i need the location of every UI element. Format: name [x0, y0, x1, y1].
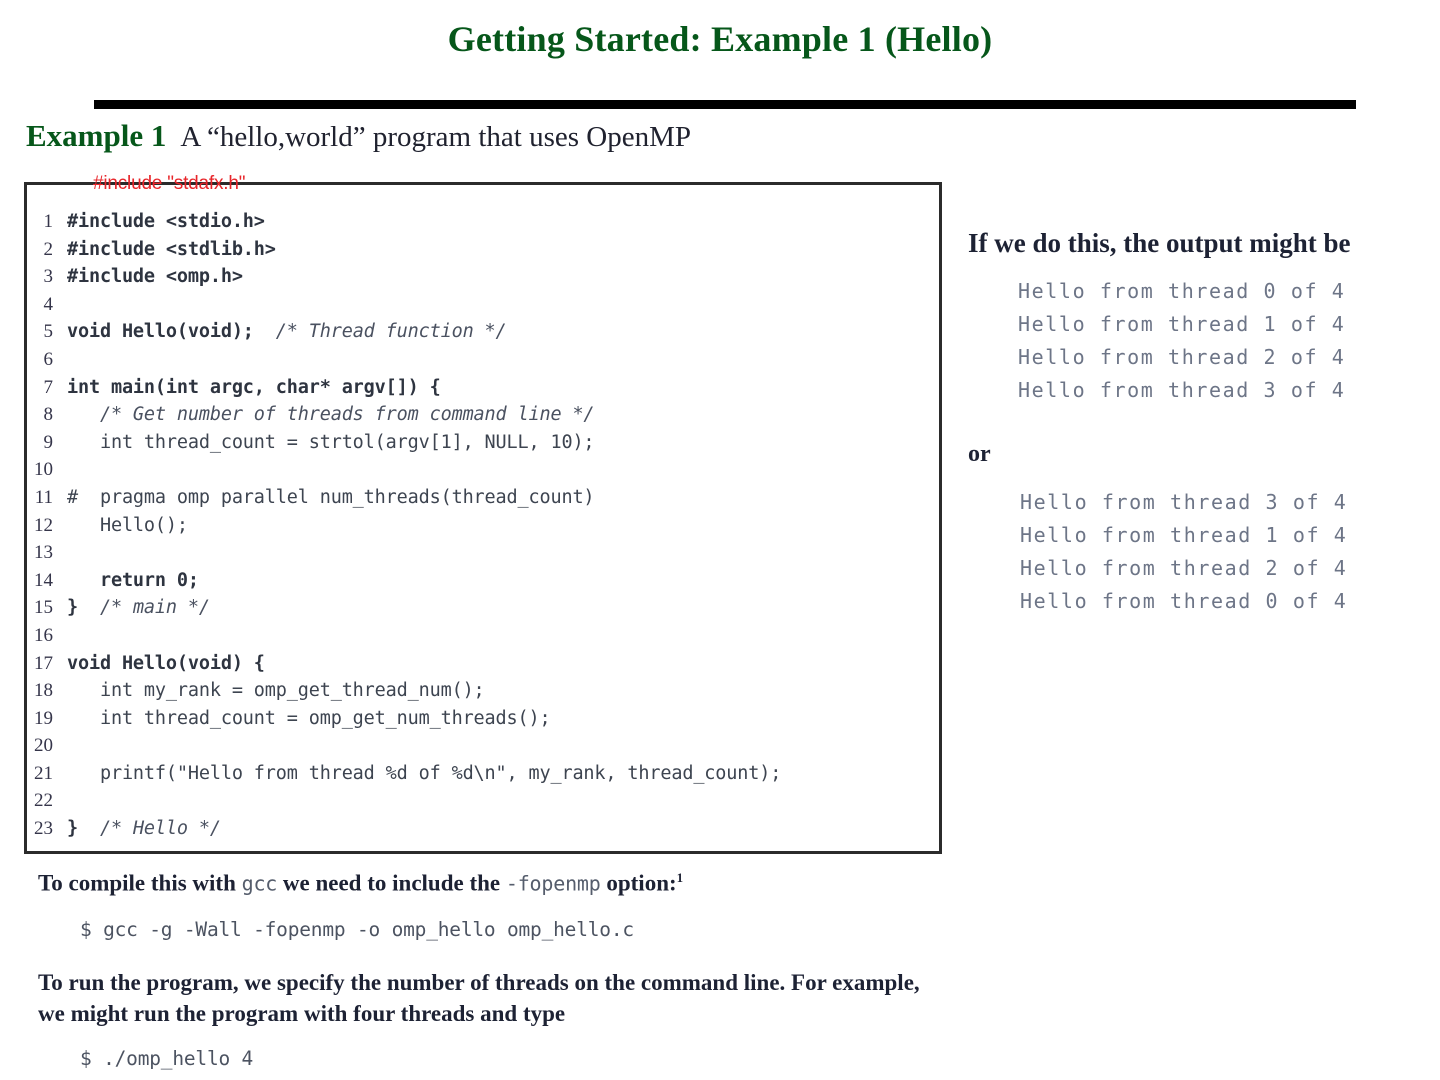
code-line-number: 7	[27, 377, 67, 399]
code-listing-inner: #include "stdafx.h" 1#include <stdio.h>2…	[27, 185, 939, 851]
code-line-number: 18	[27, 680, 67, 702]
compile-text-1: To compile this with	[38, 871, 242, 896]
bottom-prose: To compile this with gcc we need to incl…	[38, 862, 938, 1070]
or-label: or	[968, 441, 1428, 468]
code-line-number: 22	[27, 790, 67, 812]
code-line-text: #include <omp.h>	[67, 266, 243, 287]
example-label: Example 1	[26, 118, 166, 154]
code-line: 19 int thread_count = omp_get_num_thread…	[27, 708, 939, 736]
code-line-number: 21	[27, 763, 67, 785]
compile-text-2: we need to include the	[277, 871, 506, 896]
code-line: 20	[27, 735, 939, 763]
code-line-number: 9	[27, 432, 67, 454]
code-line: 21 printf("Hello from thread %d of %d\n"…	[27, 763, 939, 791]
code-line-text: }	[67, 818, 78, 839]
code-line-number: 20	[27, 735, 67, 757]
code-line: 6	[27, 349, 939, 377]
code-line-text: int my_rank = omp_get_thread_num();	[67, 680, 485, 701]
code-line-number: 15	[27, 597, 67, 619]
output-sample-2: Hello from thread 3 of 4 Hello from thre…	[1020, 486, 1428, 618]
code-line-text: return 0;	[67, 570, 199, 591]
code-line-number: 3	[27, 266, 67, 288]
code-line-text: int thread_count = omp_get_num_threads()…	[67, 708, 550, 729]
code-line: 1#include <stdio.h>	[27, 211, 939, 239]
run-command: $ ./omp_hello 4	[80, 1047, 938, 1070]
code-line-number: 4	[27, 294, 67, 316]
code-line-number: 14	[27, 570, 67, 592]
code-line-comment: /* Get number of threads from command li…	[67, 404, 594, 425]
compile-mono-gcc: gcc	[242, 872, 278, 896]
code-line-comment: /* Thread function */	[254, 321, 507, 342]
code-line-text: printf("Hello from thread %d of %d\n", m…	[67, 763, 781, 784]
code-line: 18 int my_rank = omp_get_thread_num();	[27, 680, 939, 708]
code-line-number: 23	[27, 818, 67, 840]
footnote-marker: 1	[677, 870, 684, 885]
code-line: 15} /* main */	[27, 597, 939, 625]
code-line-number: 11	[27, 487, 67, 509]
output-heading: If we do this, the output might be	[968, 228, 1428, 259]
code-line: 10	[27, 459, 939, 487]
code-line-text: #include <stdio.h>	[67, 211, 265, 232]
code-line-number: 10	[27, 459, 67, 481]
code-line-number: 8	[27, 404, 67, 426]
code-line-text: int thread_count = strtol(argv[1], NULL,…	[67, 432, 594, 453]
code-line-comment: /* Hello */	[78, 818, 221, 839]
code-line: 13	[27, 542, 939, 570]
code-line-number: 16	[27, 625, 67, 647]
code-line-text: int main(int argc, char* argv[]) {	[67, 377, 441, 398]
output-panel: If we do this, the output might be Hello…	[968, 228, 1428, 618]
code-line-number: 1	[27, 211, 67, 233]
code-line-text: #include <stdlib.h>	[67, 239, 276, 260]
example-subtitle: A “hello,world” program that uses OpenMP	[180, 121, 691, 154]
code-line: 7int main(int argc, char* argv[]) {	[27, 377, 939, 405]
code-line-text: # pragma omp parallel num_threads(thread…	[67, 487, 594, 508]
code-line: 12 Hello();	[27, 515, 939, 543]
code-line-text: void Hello(void);	[67, 321, 254, 342]
compile-instruction: To compile this with gcc we need to incl…	[38, 862, 938, 900]
code-line-text: void Hello(void) {	[67, 653, 265, 674]
compile-text-3: option:	[601, 871, 677, 896]
code-lines: 1#include <stdio.h>2#include <stdlib.h>3…	[27, 211, 939, 846]
code-line: 2#include <stdlib.h>	[27, 239, 939, 267]
page-title: Getting Started: Example 1 (Hello)	[0, 18, 1440, 60]
code-line: 14 return 0;	[27, 570, 939, 598]
code-line-number: 6	[27, 349, 67, 371]
code-line-number: 5	[27, 321, 67, 343]
code-line: 8 /* Get number of threads from command …	[27, 404, 939, 432]
run-instruction: To run the program, we specify the numbe…	[38, 967, 938, 1029]
example-header: Example 1 A “hello,world” program that u…	[26, 118, 1026, 162]
code-line-number: 17	[27, 653, 67, 675]
code-listing-box: #include "stdafx.h" 1#include <stdio.h>2…	[24, 182, 942, 854]
code-line-text: }	[67, 597, 78, 618]
code-line: 4	[27, 294, 939, 322]
code-line-number: 2	[27, 239, 67, 261]
output-sample-1: Hello from thread 0 of 4 Hello from thre…	[1018, 275, 1428, 407]
code-line: 9 int thread_count = strtol(argv[1], NUL…	[27, 432, 939, 460]
code-line-text: Hello();	[67, 515, 188, 536]
code-line: 17void Hello(void) {	[27, 653, 939, 681]
code-line-number: 12	[27, 515, 67, 537]
code-line: 5void Hello(void); /* Thread function */	[27, 321, 939, 349]
code-line: 23} /* Hello */	[27, 818, 939, 846]
code-line: 16	[27, 625, 939, 653]
compile-command: $ gcc -g -Wall -fopenmp -o omp_hello omp…	[80, 918, 938, 941]
code-line: 3#include <omp.h>	[27, 266, 939, 294]
code-line-number: 13	[27, 542, 67, 564]
code-line-number: 19	[27, 708, 67, 730]
stdafx-annotation: #include "stdafx.h"	[93, 173, 245, 195]
code-line: 11# pragma omp parallel num_threads(thre…	[27, 487, 939, 515]
compile-mono-fopenmp: -fopenmp	[506, 872, 601, 896]
code-line: 22	[27, 790, 939, 818]
code-line-comment: /* main */	[78, 597, 210, 618]
title-divider-rule	[94, 100, 1356, 109]
